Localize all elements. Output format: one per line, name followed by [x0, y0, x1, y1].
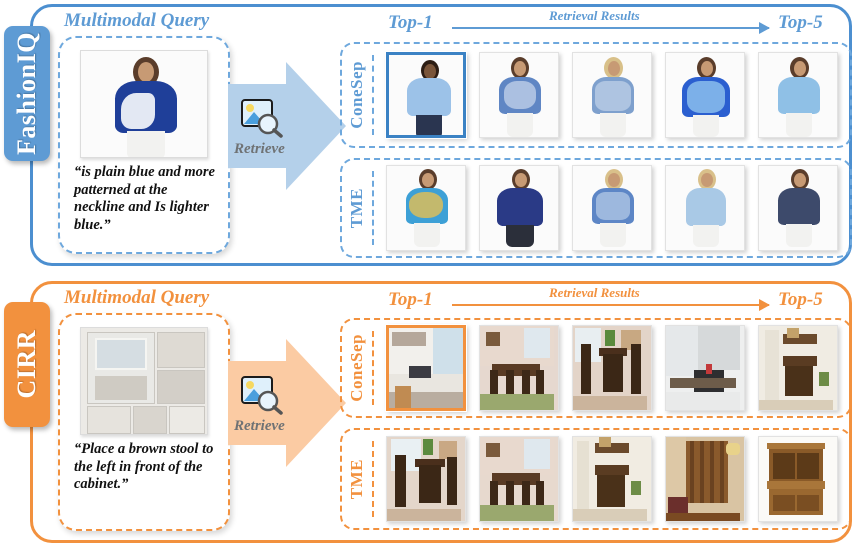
method-label-conesep: ConeSep [342, 334, 372, 402]
result-thumbnail-rank1[interactable] [386, 325, 466, 411]
result-thumbnail-rank4[interactable] [665, 165, 745, 251]
query-image-cirr [80, 327, 208, 435]
image-search-icon [240, 375, 284, 415]
query-card-fashioniq: “is plain blue and more patterned at the… [58, 36, 230, 254]
method-label-tme: TME [342, 188, 372, 228]
image-search-icon [240, 98, 284, 138]
result-row-fashioniq-tme: TME [340, 158, 852, 258]
result-thumbnail-rank1[interactable] [386, 165, 466, 251]
retrieve-label-fashioniq: Retrieve [234, 141, 285, 158]
query-card-cirr: “Place a brown stool to the left in fron… [58, 313, 230, 531]
heading-top1-cirr: Top-1 [388, 289, 433, 311]
result-thumbnail-rank4[interactable] [665, 325, 745, 411]
method-label-conesep: ConeSep [342, 61, 372, 129]
query-image-fashioniq [80, 50, 208, 158]
result-thumbnail-rank5[interactable] [758, 52, 838, 138]
heading-multimodal-query-fashioniq: Multimodal Query [64, 10, 209, 32]
query-text-cirr: “Place a brown stool to the left in fron… [70, 439, 218, 494]
result-thumbnail-rank3[interactable] [572, 436, 652, 522]
dataset-tab-fashioniq: FashionIQ [4, 26, 50, 161]
result-thumbnail-rank3[interactable] [572, 52, 652, 138]
thumbnail-strip [374, 430, 850, 528]
heading-multimodal-query-cirr: Multimodal Query [64, 287, 209, 309]
result-row-cirr-tme: TME [340, 428, 852, 530]
heading-top5-cirr: Top-5 [778, 289, 823, 311]
result-thumbnail-rank5[interactable] [758, 436, 838, 522]
dataset-tab-label: CIRR [12, 330, 42, 398]
heading-top5-fashioniq: Top-5 [778, 12, 823, 34]
result-thumbnail-rank5[interactable] [758, 165, 838, 251]
result-thumbnail-rank2[interactable] [479, 165, 559, 251]
arrow-right-icon [452, 299, 769, 311]
result-thumbnail-rank2[interactable] [479, 436, 559, 522]
qualitative-results-figure: FashionIQ Multimodal Query Top-1 Retriev… [0, 0, 866, 546]
result-thumbnail-rank4[interactable] [665, 52, 745, 138]
result-thumbnail-rank1[interactable] [386, 436, 466, 522]
dataset-tab-label: FashionIQ [12, 32, 42, 155]
result-row-cirr-conesep: ConeSep [340, 318, 852, 418]
query-text-fashioniq: “is plain blue and more patterned at the… [70, 162, 218, 235]
retrieve-label-cirr: Retrieve [234, 418, 285, 435]
result-thumbnail-rank5[interactable] [758, 325, 838, 411]
thumbnail-strip [374, 160, 850, 256]
thumbnail-strip [374, 320, 850, 416]
thumbnail-strip [374, 44, 850, 146]
dataset-tab-cirr: CIRR [4, 302, 50, 427]
result-thumbnail-rank2[interactable] [479, 52, 559, 138]
result-thumbnail-rank3[interactable] [572, 325, 652, 411]
heading-top1-fashioniq: Top-1 [388, 12, 433, 34]
result-thumbnail-rank4[interactable] [665, 436, 745, 522]
arrow-right-icon [452, 22, 769, 34]
result-row-fashioniq-conesep: ConeSep [340, 42, 852, 148]
result-thumbnail-rank2[interactable] [479, 325, 559, 411]
result-thumbnail-rank1[interactable] [386, 52, 466, 138]
method-label-tme: TME [342, 459, 372, 499]
result-thumbnail-rank3[interactable] [572, 165, 652, 251]
